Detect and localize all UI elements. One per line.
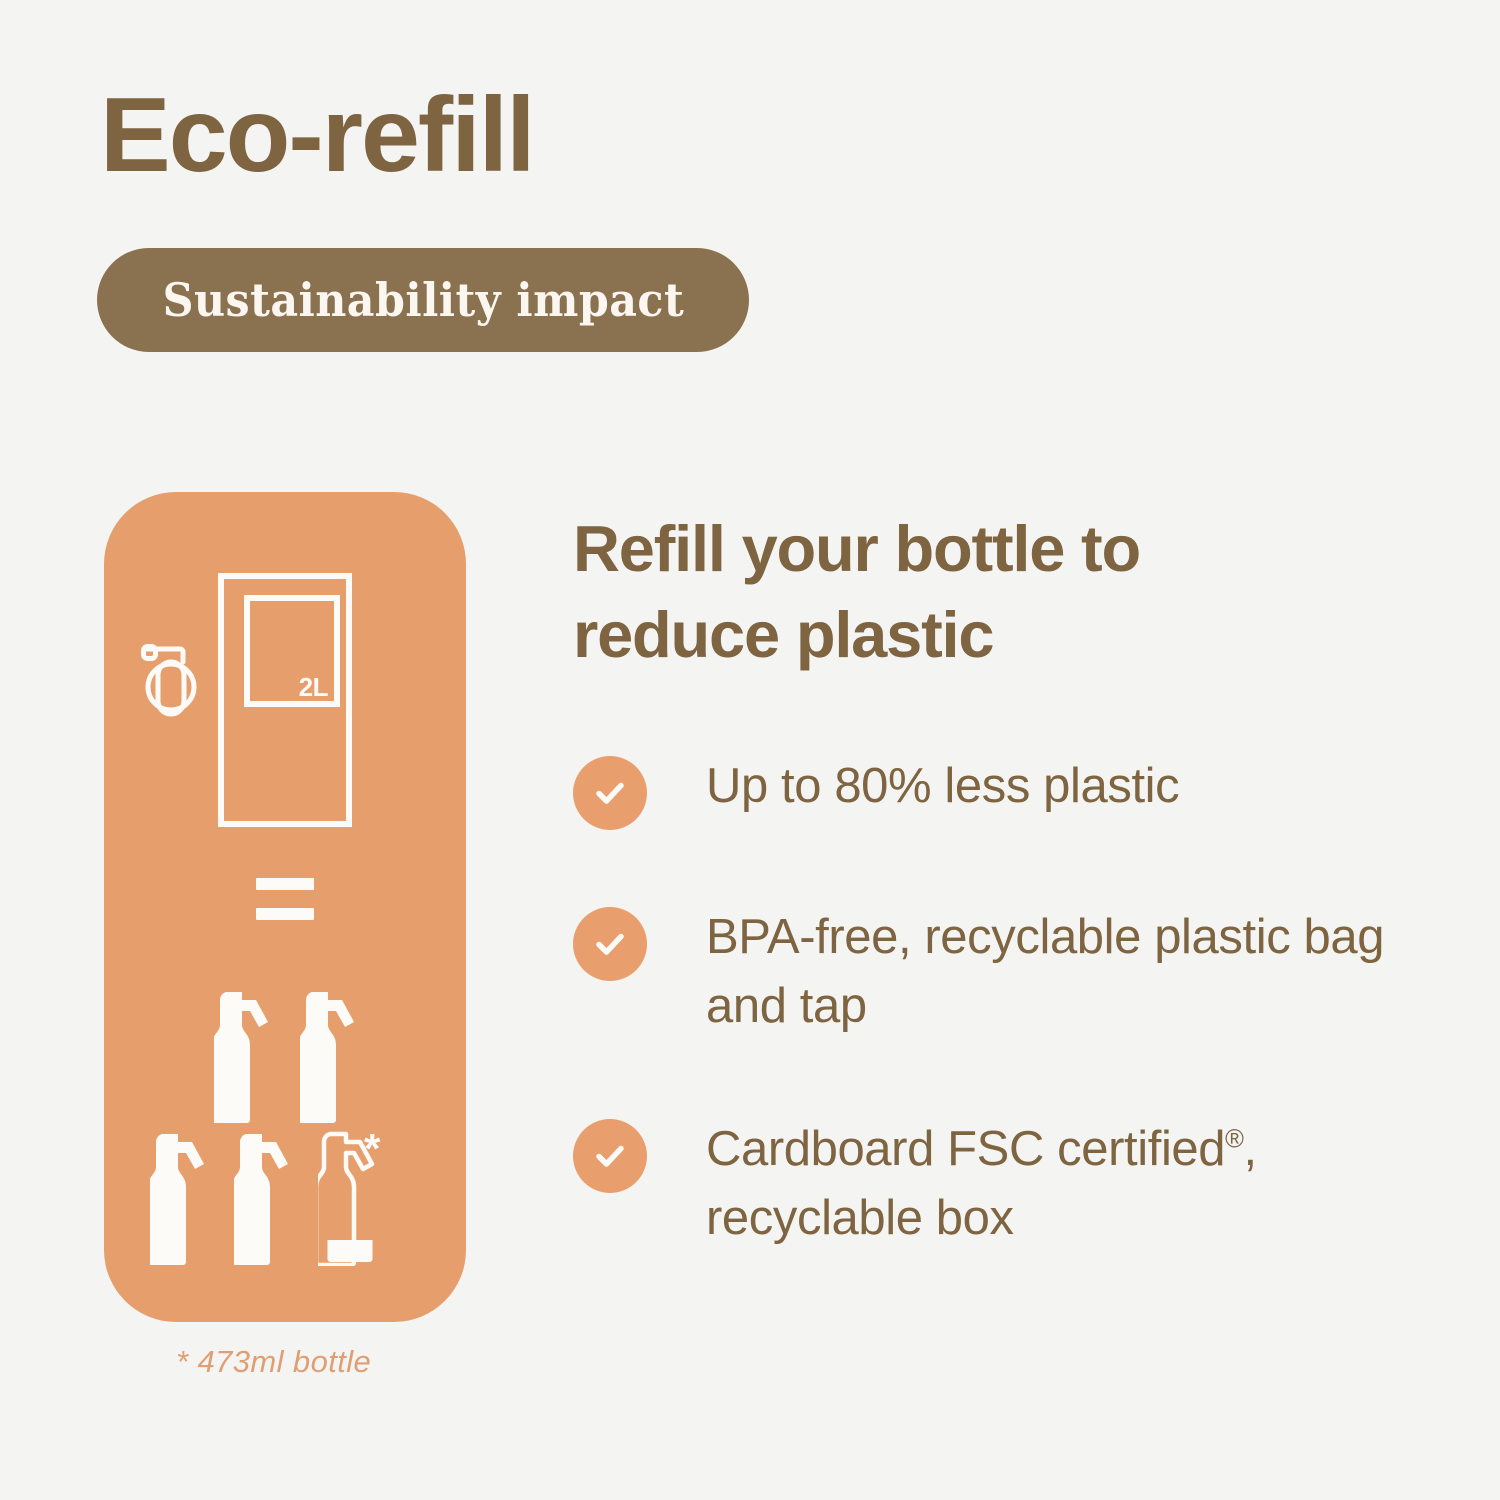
asterisk-icon: * (364, 1128, 380, 1170)
spray-bottle-icon (300, 988, 364, 1124)
refill-box-inner-panel: 2L (244, 595, 340, 707)
spray-bottle-icon (234, 1130, 298, 1266)
bottle-row-bottom (150, 1130, 382, 1266)
check-icon (573, 1119, 647, 1193)
bottle-equivalence-group: * (142, 988, 442, 1288)
benefit-text: Up to 80% less plastic (706, 752, 1179, 822)
headline: Refill your bottle to reduce plastic (573, 506, 1313, 678)
list-item: Up to 80% less plastic (573, 752, 1453, 830)
footnote-bottle-size: * 473ml bottle (176, 1344, 371, 1380)
refill-illustration-card: 2L (104, 492, 466, 1322)
spray-bottle-icon (150, 1130, 214, 1266)
spray-bottle-icon (214, 988, 278, 1124)
benefit-text: Cardboard FSC certified®, recyclable box (706, 1115, 1453, 1254)
benefit-list: Up to 80% less plastic BPA-free, recycla… (573, 752, 1453, 1254)
page-title: Eco-refill (100, 82, 534, 188)
benefit-text: BPA-free, recyclable plastic bag and tap (706, 903, 1453, 1042)
infographic-page: Eco-refill Sustainability impact 2L (0, 0, 1500, 1500)
box-volume-label: 2L (299, 674, 328, 700)
equals-icon (256, 878, 314, 920)
refill-box-icon: 2L (218, 573, 352, 827)
benefit-text-main: Cardboard FSC certified (706, 1122, 1225, 1176)
equals-bar-bottom (256, 908, 314, 920)
bottle-row-top (214, 988, 364, 1124)
list-item: BPA-free, recyclable plastic bag and tap (573, 903, 1453, 1042)
list-item: Cardboard FSC certified®, recyclable box (573, 1115, 1453, 1254)
content-column: Refill your bottle to reduce plastic Up … (573, 506, 1453, 1254)
tap-spigot-icon (136, 640, 206, 718)
check-icon (573, 907, 647, 981)
equals-bar-top (256, 878, 314, 890)
check-icon (573, 756, 647, 830)
sustainability-badge-label: Sustainability impact (162, 273, 684, 327)
registered-trademark-mark: ® (1225, 1125, 1243, 1153)
sustainability-badge: Sustainability impact (97, 248, 749, 352)
